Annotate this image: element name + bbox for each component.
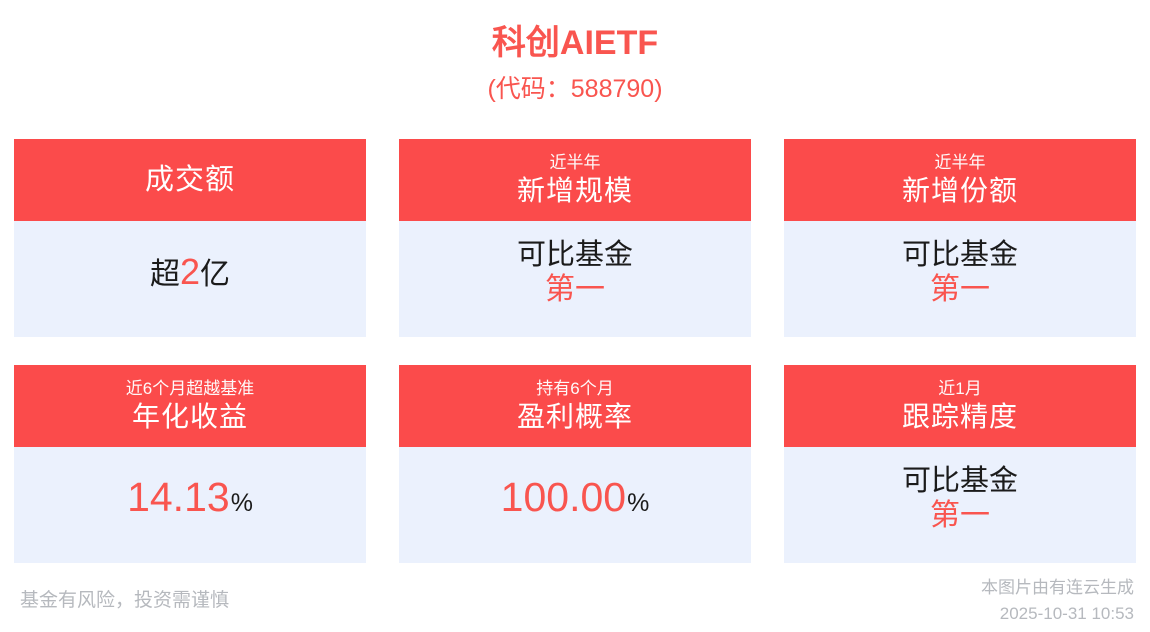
value-unit: % <box>231 490 253 516</box>
card-header: 持有6个月 盈利概率 <box>399 365 751 447</box>
metric-card-tracking-accuracy: 近1月 跟踪精度 可比基金 第一 <box>784 365 1136 563</box>
card-header: 近1月 跟踪精度 <box>784 365 1136 447</box>
metric-card-profit-probability: 持有6个月 盈利概率 100.00 % <box>399 365 751 563</box>
generator-info: 本图片由有连云生成 2025-10-31 10:53 <box>981 575 1134 627</box>
value-prefix: 超 <box>150 259 180 291</box>
value-main: 2 <box>180 253 200 291</box>
card-kicker: 近6个月超越基准 <box>126 378 254 400</box>
value-bottom: 第一 <box>545 273 605 307</box>
value-top: 可比基金 <box>517 238 633 272</box>
metric-card-new-scale: 近半年 新增规模 可比基金 第一 <box>399 139 751 337</box>
card-kicker: 持有6个月 <box>536 378 613 400</box>
card-heading: 年化收益 <box>132 400 248 434</box>
card-body: 14.13 % <box>14 447 366 563</box>
card-kicker: 近半年 <box>935 152 986 174</box>
metric-card-turnover: 成交额 超 2 亿 <box>14 139 366 337</box>
value-number: 14.13 <box>127 476 230 519</box>
page-title: 科创AIETF <box>0 22 1150 64</box>
value-number: 100.00 <box>501 476 626 519</box>
card-value: 100.00 % <box>501 476 650 519</box>
value-bottom: 第一 <box>930 499 990 533</box>
value-suffix: 亿 <box>200 259 230 291</box>
card-value: 14.13 % <box>127 476 253 519</box>
metric-card-grid: 成交额 超 2 亿 近半年 新增规模 可比基金 第一 <box>14 139 1136 563</box>
card-header: 近6个月超越基准 年化收益 <box>14 365 366 447</box>
card-header: 成交额 <box>14 139 366 221</box>
card-body: 可比基金 第一 <box>399 221 751 337</box>
card-header: 近半年 新增份额 <box>784 139 1136 221</box>
card-body: 100.00 % <box>399 447 751 563</box>
metric-card-annualized-return: 近6个月超越基准 年化收益 14.13 % <box>14 365 366 563</box>
generated-timestamp: 2025-10-31 10:53 <box>981 601 1134 627</box>
value-top: 可比基金 <box>902 464 1018 498</box>
fund-code-line: (代码：588790) <box>0 72 1150 106</box>
value-top: 可比基金 <box>902 238 1018 272</box>
card-header: 近半年 新增规模 <box>399 139 751 221</box>
card-body: 可比基金 第一 <box>784 221 1136 337</box>
poster-canvas: 科创AIETF (代码：588790) 成交额 超 2 亿 近半年 新增规模 <box>0 0 1150 632</box>
metric-card-new-shares: 近半年 新增份额 可比基金 第一 <box>784 139 1136 337</box>
card-body: 超 2 亿 <box>14 221 366 337</box>
card-heading: 新增规模 <box>517 174 633 208</box>
risk-disclaimer: 基金有风险，投资需谨慎 <box>20 588 229 614</box>
value-unit: % <box>627 490 649 516</box>
card-kicker: 近半年 <box>550 152 601 174</box>
value-bottom: 第一 <box>930 273 990 307</box>
card-heading: 跟踪精度 <box>902 400 1018 434</box>
title-block: 科创AIETF (代码：588790) <box>0 0 1150 106</box>
card-body: 可比基金 第一 <box>784 447 1136 563</box>
card-heading: 新增份额 <box>902 174 1018 208</box>
card-value: 超 2 亿 <box>150 253 230 291</box>
footer: 基金有风险，投资需谨慎 本图片由有连云生成 2025-10-31 10:53 <box>0 575 1150 632</box>
generator-label: 本图片由有连云生成 <box>981 575 1134 601</box>
card-kicker: 近1月 <box>938 378 981 400</box>
card-heading: 盈利概率 <box>517 400 633 434</box>
card-heading: 成交额 <box>145 162 235 198</box>
